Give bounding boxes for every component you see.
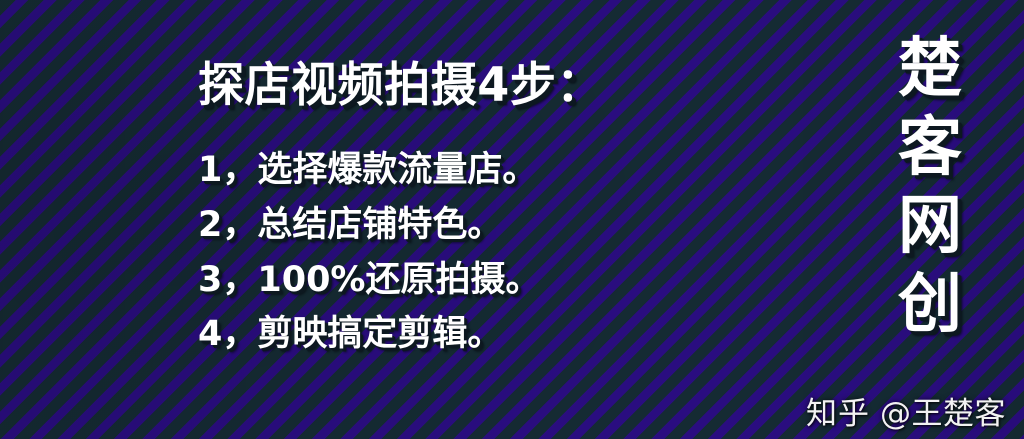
brand-char: 创 bbox=[898, 274, 962, 337]
list-item: 3， 100%还原拍摄。 bbox=[198, 262, 541, 299]
list-item: 2， 总结店铺特色。 bbox=[198, 207, 541, 244]
brand-char: 网 bbox=[898, 195, 962, 258]
watermark-site: 知乎 bbox=[806, 388, 870, 433]
step-index: 4， bbox=[198, 316, 257, 353]
step-text: 剪映搞定剪辑。 bbox=[257, 316, 502, 353]
steps-list: 1， 选择爆款流量店。 2， 总结店铺特色。 3， 100%还原拍摄。 4， 剪… bbox=[198, 152, 541, 353]
list-item: 4， 剪映搞定剪辑。 bbox=[198, 316, 541, 353]
step-text: 100%还原拍摄。 bbox=[257, 262, 540, 299]
step-index: 3， bbox=[198, 262, 257, 299]
step-index: 1， bbox=[198, 152, 257, 189]
step-text: 选择爆款流量店。 bbox=[257, 152, 537, 189]
watermark-handle: @王楚客 bbox=[880, 388, 1006, 433]
page-title: 探店视频拍摄4步： bbox=[198, 62, 603, 109]
step-index: 2， bbox=[198, 207, 257, 244]
brand-char: 客 bbox=[898, 117, 962, 180]
list-item: 1， 选择爆款流量店。 bbox=[198, 152, 541, 189]
brand-vertical-column: 楚 客 网 创 bbox=[888, 38, 972, 337]
poster-canvas: 探店视频拍摄4步： 1， 选择爆款流量店。 2， 总结店铺特色。 3， 100%… bbox=[0, 0, 1024, 439]
brand-char: 楚 bbox=[898, 38, 962, 101]
watermark: 知乎 @王楚客 bbox=[806, 388, 1006, 433]
step-text: 总结店铺特色。 bbox=[257, 207, 502, 244]
